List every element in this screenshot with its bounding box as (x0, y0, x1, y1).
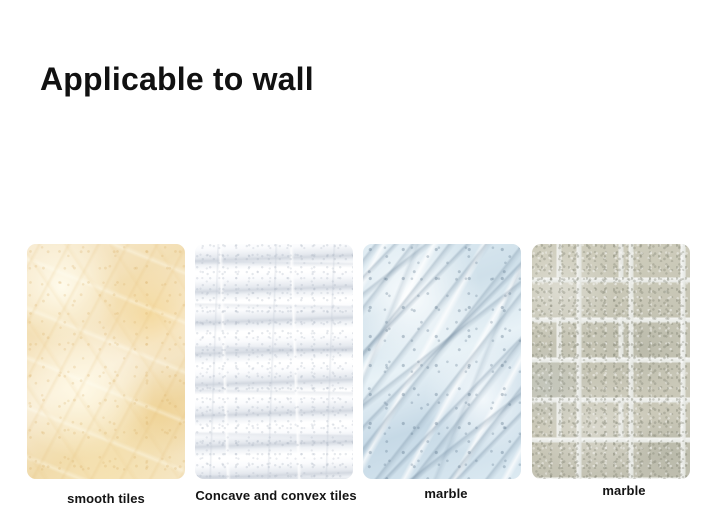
material-card-1[interactable] (27, 244, 185, 479)
material-card-2[interactable] (195, 244, 353, 479)
swatch-image-concave-convex-tiles[interactable] (195, 244, 353, 479)
slide-canvas: Applicable to wall (0, 0, 720, 530)
texture-speck-layer (27, 244, 185, 479)
caption-material-4: marble (534, 481, 714, 501)
texture-grain-layer (195, 244, 353, 479)
caption-material-3: marble (356, 484, 536, 504)
material-card-4[interactable] (532, 244, 690, 479)
swatch-image-smooth-tiles[interactable] (27, 244, 185, 479)
swatch-image-marble-blue[interactable] (363, 244, 521, 479)
texture-grit-layer (532, 244, 690, 479)
material-card-3[interactable] (363, 244, 521, 479)
page-title: Applicable to wall (40, 59, 314, 99)
swatch-image-marble-stone-wall[interactable] (532, 244, 690, 479)
caption-material-1: smooth tiles (16, 489, 196, 509)
texture-fleck-layer (363, 244, 521, 479)
caption-material-2: Concave and convex tiles (186, 486, 366, 506)
